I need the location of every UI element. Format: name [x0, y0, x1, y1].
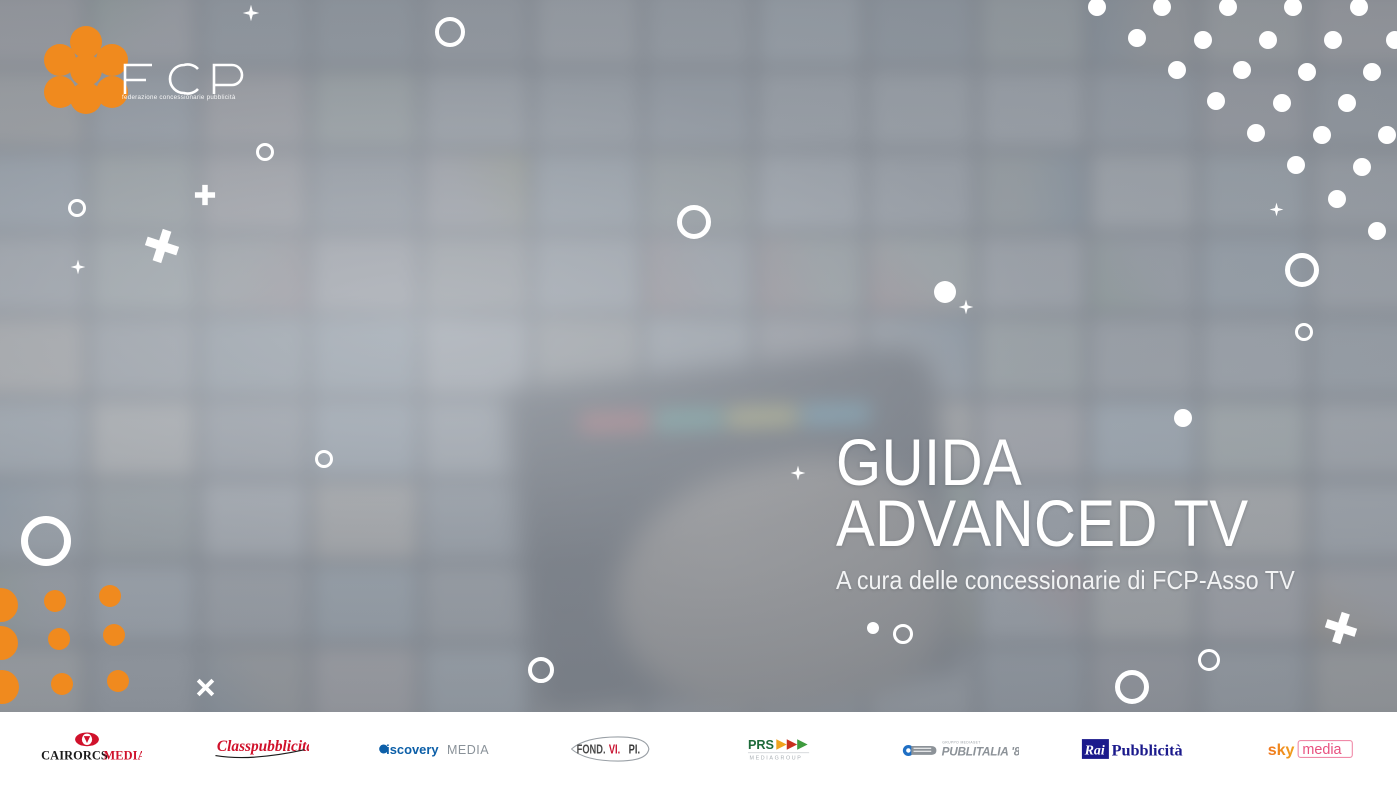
hero-section: federazione concessionarie pubblicità GU… — [0, 0, 1397, 712]
svg-text:VI.: VI. — [609, 742, 620, 756]
cover-page: federazione concessionarie pubblicità GU… — [0, 0, 1397, 785]
svg-text:PUBLITALIA '80: PUBLITALIA '80 — [942, 744, 1019, 758]
partner-logo-row: CAIRORCS MEDIA CAIRORCS Classpubblicità … — [0, 712, 1397, 785]
title-line-2: ADVANCED TV — [836, 493, 1276, 554]
fcp-tagline: federazione concessionarie pubblicità — [122, 94, 236, 101]
fcp-logo[interactable]: federazione concessionarie pubblicità — [44, 26, 244, 116]
svg-text:FOND.: FOND. — [577, 742, 606, 756]
svg-text:Pubblicità: Pubblicità — [1112, 741, 1183, 759]
svg-text:GRUPPO MEDIASET: GRUPPO MEDIASET — [943, 740, 981, 744]
partner-logo-classpubblicita[interactable]: Classpubblicità Classpubblicità — [175, 712, 350, 785]
svg-text:CAIRORCS: CAIRORCS — [41, 749, 108, 763]
partner-logo-fond-vi-pi[interactable]: FOND. VI. PI. FOND. — [524, 712, 699, 785]
svg-text:MEDIA: MEDIA — [447, 743, 489, 757]
svg-text:Rai: Rai — [1084, 743, 1105, 758]
partner-logo-discovery-media[interactable]: iscovery MEDIA Discovery — [349, 712, 524, 785]
hero-headline: GUIDA ADVANCED TV A cura delle concessio… — [836, 432, 1336, 596]
fcp-wordmark — [122, 62, 250, 96]
svg-text:Classpubblicità: Classpubblicità — [217, 738, 309, 755]
svg-text:MEDIA: MEDIA — [104, 749, 143, 763]
title-line-1: GUIDA — [836, 432, 1276, 493]
partner-logo-footer: CAIRORCS MEDIA CAIRORCS Classpubblicità … — [0, 712, 1397, 785]
svg-text:sky: sky — [1267, 740, 1294, 758]
partner-logo-prs-mediagroup[interactable]: PRS MEDIAGROUP PRS — [699, 712, 874, 785]
partner-logo-publitalia-80[interactable]: GRUPPO MEDIASET PUBLITALIA '80 PUBLITALI… — [873, 712, 1048, 785]
svg-text:MEDIAGROUP: MEDIAGROUP — [749, 755, 802, 761]
fcp-flower-icon — [44, 26, 128, 114]
svg-text:media: media — [1302, 742, 1341, 758]
svg-text:PRS: PRS — [748, 738, 774, 752]
partner-logo-rai-pubblicita[interactable]: Rai Pubblicità Pubblicità — [1048, 712, 1223, 785]
svg-text:PI.: PI. — [629, 742, 640, 756]
svg-text:iscovery: iscovery — [386, 742, 439, 757]
partner-logo-sky-media[interactable]: sky media sky — [1222, 712, 1397, 785]
hero-subtitle: A cura delle concessionarie di FCP-Asso … — [836, 565, 1286, 596]
partner-logo-cairorcs-media[interactable]: CAIRORCS MEDIA CAIRORCS — [0, 712, 175, 785]
